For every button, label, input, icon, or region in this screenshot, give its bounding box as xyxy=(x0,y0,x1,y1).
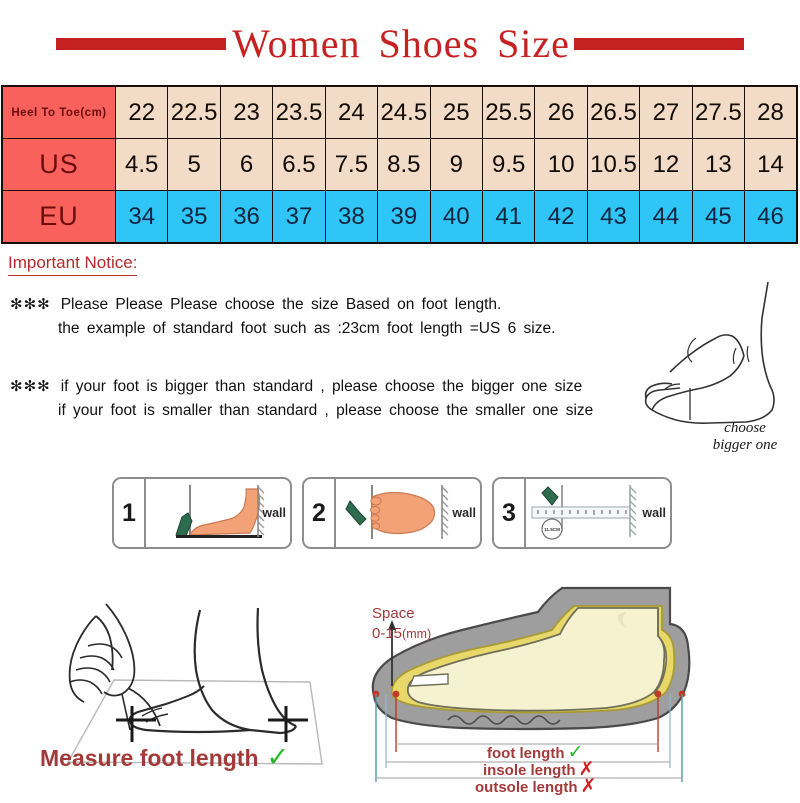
cell-us: 9.5 xyxy=(482,139,534,191)
space-label-line1: Space xyxy=(372,605,415,622)
step-artwork-ruler: 11.5CM wall xyxy=(526,479,670,547)
cell-us: 9 xyxy=(430,139,482,191)
cell-cm: 27.5 xyxy=(692,86,744,139)
cross-icon: ✗ xyxy=(581,776,597,797)
row-header-us: US xyxy=(2,139,116,191)
size-conversion-table: Heel To Toe(cm) 22 22.5 23 23.5 24 24.5 … xyxy=(1,85,798,244)
outsole-length-label: outsole length✗ xyxy=(475,775,596,798)
notice-line: if your foot is smaller than standard , … xyxy=(10,399,593,423)
title-bar-left xyxy=(56,38,226,50)
row-header-heel-to-toe: Heel To Toe(cm) xyxy=(2,86,116,139)
cell-eu: 43 xyxy=(587,191,639,244)
caption-line-1: choose xyxy=(724,420,766,436)
size-chart-page: WomenShoesSize Heel To Toe(cm) 22 22.5 2… xyxy=(0,0,800,800)
cell-us: 6.5 xyxy=(273,139,325,191)
cell-cm: 25.5 xyxy=(482,86,534,139)
cell-cm: 27 xyxy=(640,86,692,139)
cell-cm: 28 xyxy=(745,86,797,139)
cell-us: 8.5 xyxy=(378,139,430,191)
notice-line: the example of standard foot such as :23… xyxy=(10,317,555,341)
cell-cm: 24.5 xyxy=(378,86,430,139)
cell-eu: 37 xyxy=(273,191,325,244)
notice-paragraph-2: ✻✻✻if your foot is bigger than standard … xyxy=(10,375,593,423)
step-number: 2 xyxy=(304,479,336,547)
title-text: WomenShoesSize xyxy=(232,24,570,64)
space-label-unit: (mm) xyxy=(402,627,431,641)
title-word-size: Size xyxy=(497,21,570,66)
cell-us: 14 xyxy=(745,139,797,191)
cell-eu: 35 xyxy=(168,191,220,244)
cell-us: 10.5 xyxy=(587,139,639,191)
cell-eu: 41 xyxy=(482,191,534,244)
page-title: WomenShoesSize xyxy=(0,18,800,70)
notice-heading: Important Notice: xyxy=(8,253,137,276)
step-artwork-foot-side: wall xyxy=(146,479,290,547)
cell-eu: 39 xyxy=(378,191,430,244)
cell-us: 6 xyxy=(220,139,272,191)
check-icon: ✓ xyxy=(267,742,290,772)
ruler-badge-text: 11.5CM xyxy=(544,527,560,532)
measurement-steps: 1 wall 2 xyxy=(112,477,672,549)
cell-us: 7.5 xyxy=(325,139,377,191)
table-row: EU 34 35 36 37 38 39 40 41 42 43 44 45 4… xyxy=(2,191,797,244)
cell-eu: 46 xyxy=(745,191,797,244)
notice-text: if your foot is bigger than standard , p… xyxy=(61,378,583,395)
measure-caption-text: Measure foot length xyxy=(40,745,259,771)
asterisk-icon: ✻✻✻ xyxy=(10,378,51,395)
step-panel-1: 1 wall xyxy=(112,477,292,549)
title-bar-right xyxy=(574,38,744,50)
row-header-eu: EU xyxy=(2,191,116,244)
wall-label: wall xyxy=(452,506,476,520)
wall-label: wall xyxy=(642,506,666,520)
caption-line-2: bigger one xyxy=(713,437,778,453)
cell-cm: 26 xyxy=(535,86,587,139)
cell-cm: 24 xyxy=(325,86,377,139)
notice-text: Please Please Please choose the size Bas… xyxy=(61,296,502,313)
table-row: Heel To Toe(cm) 22 22.5 23 23.5 24 24.5 … xyxy=(2,86,797,139)
cell-cm: 26.5 xyxy=(587,86,639,139)
cell-us: 12 xyxy=(640,139,692,191)
cell-cm: 25 xyxy=(430,86,482,139)
step-panel-3: 3 11.5CM xyxy=(492,477,672,549)
measure-foot-caption: Measure foot length✓ xyxy=(40,742,289,773)
outsole-length-text: outsole length xyxy=(475,779,578,796)
space-label: Space 0-15(mm) xyxy=(372,604,431,645)
cell-us: 10 xyxy=(535,139,587,191)
notice-line: ✻✻✻if your foot is bigger than standard … xyxy=(10,375,593,399)
cell-eu: 45 xyxy=(692,191,744,244)
title-word-women: Women xyxy=(232,21,360,66)
notice-line: ✻✻✻Please Please Please choose the size … xyxy=(10,293,555,317)
cell-eu: 38 xyxy=(325,191,377,244)
space-label-line2: 0-15 xyxy=(372,625,402,642)
cell-us: 13 xyxy=(692,139,744,191)
cell-cm: 23.5 xyxy=(273,86,325,139)
asterisk-icon: ✻✻✻ xyxy=(10,296,51,313)
wall-label: wall xyxy=(262,506,286,520)
step-number: 3 xyxy=(494,479,526,547)
title-word-shoes: Shoes xyxy=(378,21,479,66)
step-number: 1 xyxy=(114,479,146,547)
notice-paragraph-1: ✻✻✻Please Please Please choose the size … xyxy=(10,293,555,341)
step-artwork-foot-top: wall xyxy=(336,479,480,547)
cell-eu: 40 xyxy=(430,191,482,244)
cell-cm: 22 xyxy=(116,86,168,139)
cell-us: 5 xyxy=(168,139,220,191)
cell-cm: 23 xyxy=(220,86,272,139)
cell-eu: 44 xyxy=(640,191,692,244)
step-panel-2: 2 xyxy=(302,477,482,549)
table-row: US 4.5 5 6 6.5 7.5 8.5 9 9.5 10 10.5 12 … xyxy=(2,139,797,191)
cell-eu: 36 xyxy=(220,191,272,244)
cell-us: 4.5 xyxy=(116,139,168,191)
cell-cm: 22.5 xyxy=(168,86,220,139)
choose-bigger-caption: choose bigger one xyxy=(690,420,800,455)
cell-eu: 34 xyxy=(116,191,168,244)
cell-eu: 42 xyxy=(535,191,587,244)
